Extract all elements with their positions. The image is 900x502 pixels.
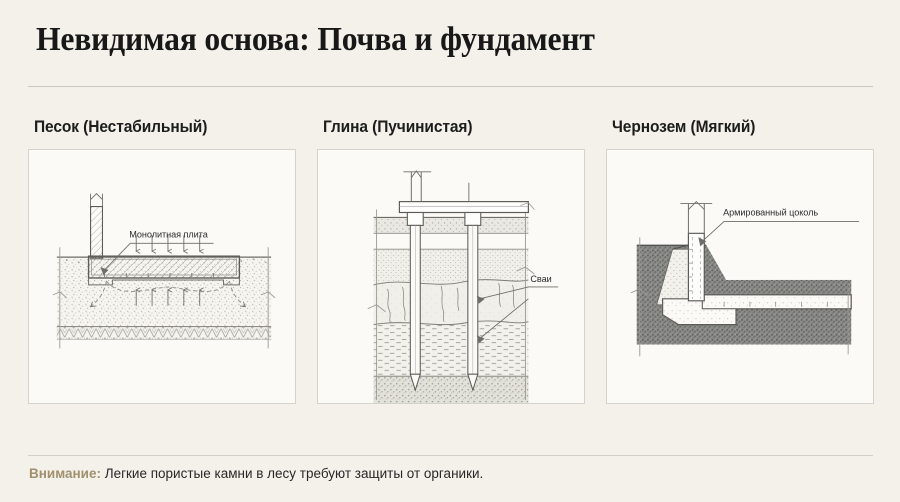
diagram-label-clay: Сваи bbox=[530, 274, 551, 284]
column-heading-chernozem: Чернозем (Мягкий) bbox=[612, 118, 858, 137]
slide-root: Невидимая основа: Почва и фундамент Песо… bbox=[0, 0, 900, 502]
panel-chernozem[interactable]: Армированный цоколь bbox=[606, 149, 874, 404]
page-title: Невидимая основа: Почва и фундамент bbox=[36, 20, 595, 60]
column-sand: Песок (Нестабильный) bbox=[28, 118, 296, 404]
panel-row: Песок (Нестабильный) bbox=[28, 118, 873, 404]
title-divider bbox=[28, 86, 873, 87]
panel-sand[interactable]: Монолитная плита bbox=[28, 149, 296, 404]
column-heading-clay: Глина (Пучинистая) bbox=[323, 118, 569, 137]
warning-label: Внимание: bbox=[29, 466, 101, 481]
warning-text: Легкие пористые камни в лесу требуют защ… bbox=[101, 466, 483, 481]
column-clay: Глина (Пучинистая) bbox=[317, 118, 585, 404]
panel-clay[interactable]: Сваи bbox=[317, 149, 585, 404]
footer-note: Внимание: Легкие пористые камни в лесу т… bbox=[29, 464, 483, 484]
diagram-label-sand: Монолитная плита bbox=[129, 229, 208, 239]
footer-divider bbox=[28, 455, 873, 456]
column-chernozem: Чернозем (Мягкий) bbox=[606, 118, 874, 404]
column-heading-sand: Песок (Нестабильный) bbox=[34, 118, 280, 137]
diagram-label-chernozem: Армированный цоколь bbox=[723, 207, 818, 217]
